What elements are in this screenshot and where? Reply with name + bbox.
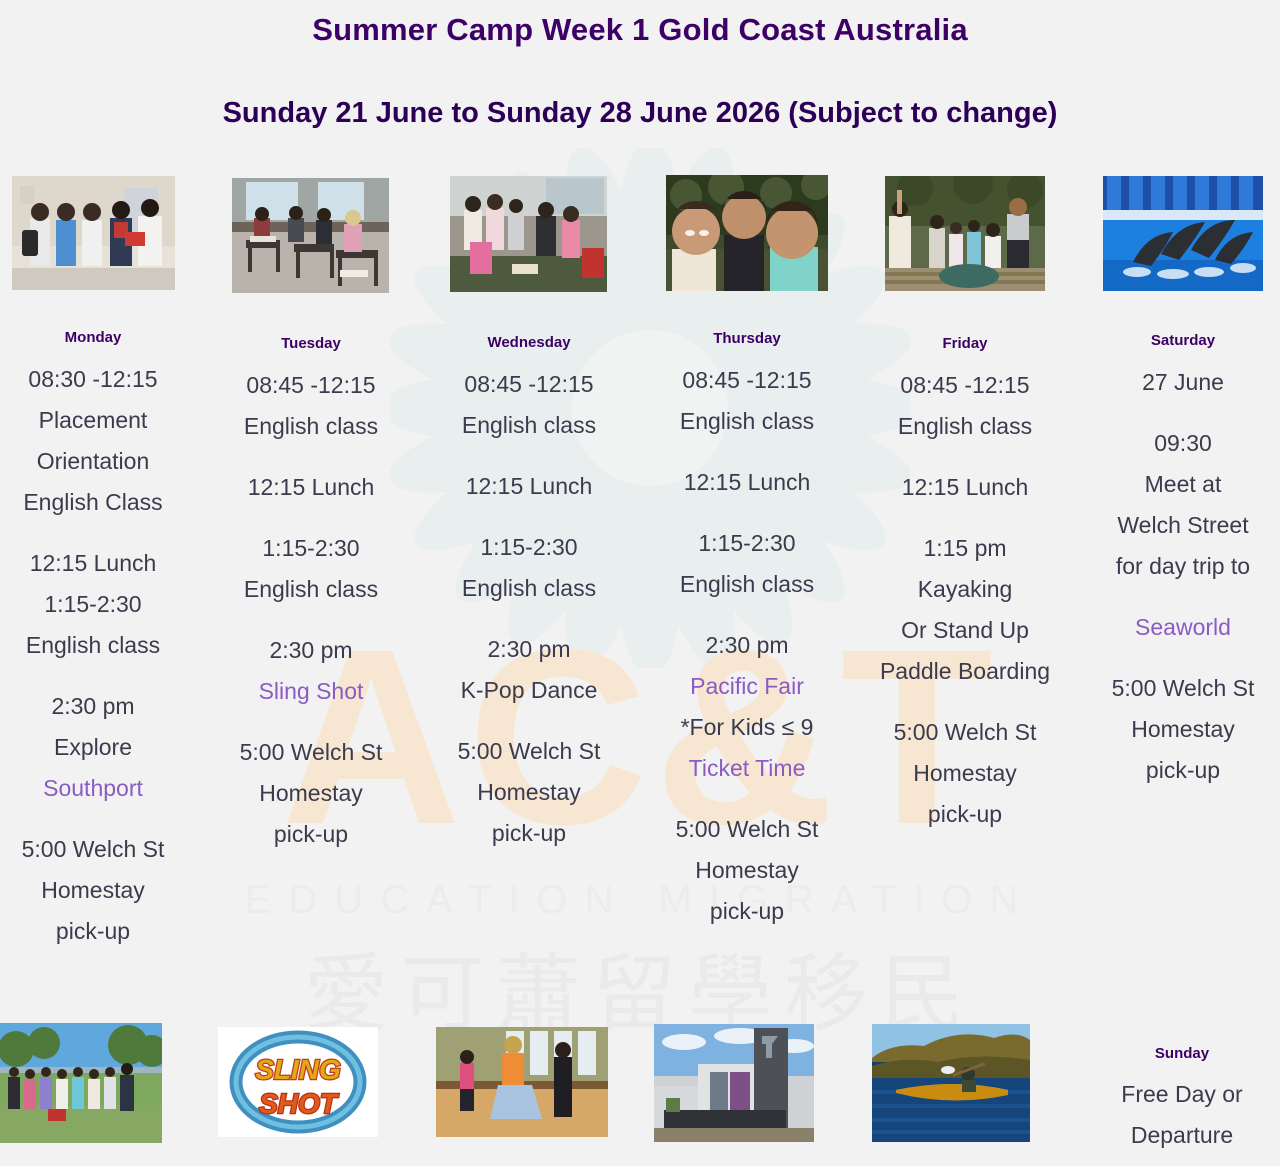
schedule-line: 5:00 Welch St [865,712,1065,753]
schedule-line: Homestay [429,772,629,813]
schedule-line: English class [647,564,847,605]
schedule-gap [0,809,193,829]
day-label-saturday: Saturday [1083,333,1280,348]
schedule-line-note: *For Kids ≤ 9 [647,707,847,748]
schedule-line: Kayaking [865,569,1065,610]
schedule-line-accent: Southport [0,768,193,809]
schedule-line: 08:45 -12:15 [865,365,1065,406]
schedule-line: 12:15 Lunch [211,467,411,508]
schedule-gap [865,508,1065,528]
schedule-gap [647,442,847,462]
schedule-line: Paddle Boarding [865,651,1065,692]
schedule-line: 1:15-2:30 [647,523,847,564]
schedule-line: Homestay [1083,709,1280,750]
schedule-line: 1:15-2:30 [211,528,411,569]
schedule-gap [1083,403,1280,423]
schedule-line: 12:15 Lunch [647,462,847,503]
schedule-gap [865,692,1065,712]
schedule-line: English class [211,406,411,447]
schedule-gap [647,789,847,809]
schedule-line: Free Day or [1082,1074,1280,1115]
schedule-line: 09:30 [1083,423,1280,464]
schedule-gap [0,523,193,543]
day-label-sunday: Sunday [1082,1046,1280,1061]
schedule-line: pick-up [1083,750,1280,791]
day-lines-wednesday: 08:45 -12:15 English class 12:15 Lunch 1… [429,364,629,854]
schedule-line: 12:15 Lunch [865,467,1065,508]
day-column-monday: Monday 08:30 -12:15 Placement Orientatio… [0,330,193,952]
day-lines-monday: 08:30 -12:15 Placement Orientation Engli… [0,359,193,952]
schedule-line: 27 June [1083,362,1280,403]
schedule-gap [429,507,629,527]
day-column-saturday: Saturday 27 June 09:30 Meet at Welch Str… [1083,333,1280,791]
day-column-friday: Friday 08:45 -12:15 English class 12:15 … [865,336,1065,835]
schedule-columns: Monday 08:30 -12:15 Placement Orientatio… [0,0,1280,1166]
day-column-sunday: Sunday Free Day or Departure [1082,1046,1280,1156]
schedule-gap [1083,648,1280,668]
schedule-line: Homestay [647,850,847,891]
schedule-line: for day trip to [1083,546,1280,587]
schedule-line-accent: Seaworld [1083,607,1280,648]
schedule-line: 08:45 -12:15 [429,364,629,405]
day-lines-saturday: 27 June 09:30 Meet at Welch Street for d… [1083,362,1280,791]
schedule-line-accent: Sling Shot [211,671,411,712]
schedule-line: pick-up [647,891,847,932]
schedule-line: 5:00 Welch St [211,732,411,773]
schedule-gap [429,609,629,629]
schedule-line: 2:30 pm [0,686,193,727]
schedule-line: 12:15 Lunch [0,543,193,584]
schedule-line: 5:00 Welch St [1083,668,1280,709]
day-label-tuesday: Tuesday [211,336,411,351]
schedule-line: pick-up [429,813,629,854]
schedule-line: Welch Street [1083,505,1280,546]
schedule-gap [647,605,847,625]
schedule-line: 12:15 Lunch [429,466,629,507]
schedule-line: English class [211,569,411,610]
schedule-line: Placement [0,400,193,441]
schedule-line: pick-up [865,794,1065,835]
schedule-gap [1083,587,1280,607]
day-column-wednesday: Wednesday 08:45 -12:15 English class 12:… [429,335,629,854]
schedule-line: 08:45 -12:15 [647,360,847,401]
schedule-line: 5:00 Welch St [0,829,193,870]
day-lines-tuesday: 08:45 -12:15 English class 12:15 Lunch 1… [211,365,411,855]
schedule-line: Meet at [1083,464,1280,505]
schedule-gap [0,666,193,686]
schedule-line: English class [429,568,629,609]
schedule-line: Homestay [0,870,193,911]
schedule-line: 2:30 pm [429,629,629,670]
schedule-line: Or Stand Up [865,610,1065,651]
schedule-gap [429,711,629,731]
day-lines-friday: 08:45 -12:15 English class 12:15 Lunch 1… [865,365,1065,835]
schedule-gap [429,446,629,466]
schedule-line: 2:30 pm [211,630,411,671]
schedule-line: 1:15-2:30 [0,584,193,625]
schedule-line: English Class [0,482,193,523]
schedule-line: 08:45 -12:15 [211,365,411,406]
schedule-line: Homestay [865,753,1065,794]
page-subtitle: Sunday 21 June to Sunday 28 June 2026 (S… [0,97,1280,130]
schedule-line: 1:15 pm [865,528,1065,569]
day-label-friday: Friday [865,336,1065,351]
schedule-line: 5:00 Welch St [647,809,847,850]
schedule-gap [211,447,411,467]
schedule-line: pick-up [0,911,193,952]
schedule-line: Homestay [211,773,411,814]
schedule-line: English class [0,625,193,666]
schedule-gap [865,447,1065,467]
day-lines-thursday: 08:45 -12:15 English class 12:15 Lunch 1… [647,360,847,932]
schedule-gap [211,712,411,732]
day-label-thursday: Thursday [647,331,847,346]
schedule-line: English class [865,406,1065,447]
schedule-line: Explore [0,727,193,768]
day-label-monday: Monday [0,330,193,345]
schedule-line: K-Pop Dance [429,670,629,711]
schedule-line: pick-up [211,814,411,855]
schedule-line: English class [429,405,629,446]
schedule-line: Departure [1082,1115,1280,1156]
page-title: Summer Camp Week 1 Gold Coast Australia [0,12,1280,48]
schedule-line-accent: Ticket Time [647,748,847,789]
day-column-thursday: Thursday 08:45 -12:15 English class 12:1… [647,331,847,932]
schedule-line: 2:30 pm [647,625,847,666]
day-label-wednesday: Wednesday [429,335,629,350]
day-column-tuesday: Tuesday 08:45 -12:15 English class 12:15… [211,336,411,855]
schedule-line: 08:30 -12:15 [0,359,193,400]
schedule-line: Orientation [0,441,193,482]
schedule-line: 1:15-2:30 [429,527,629,568]
schedule-line-accent: Pacific Fair [647,666,847,707]
schedule-line: 5:00 Welch St [429,731,629,772]
schedule-gap [211,508,411,528]
schedule-line: English class [647,401,847,442]
schedule-gap [647,503,847,523]
schedule-gap [211,610,411,630]
